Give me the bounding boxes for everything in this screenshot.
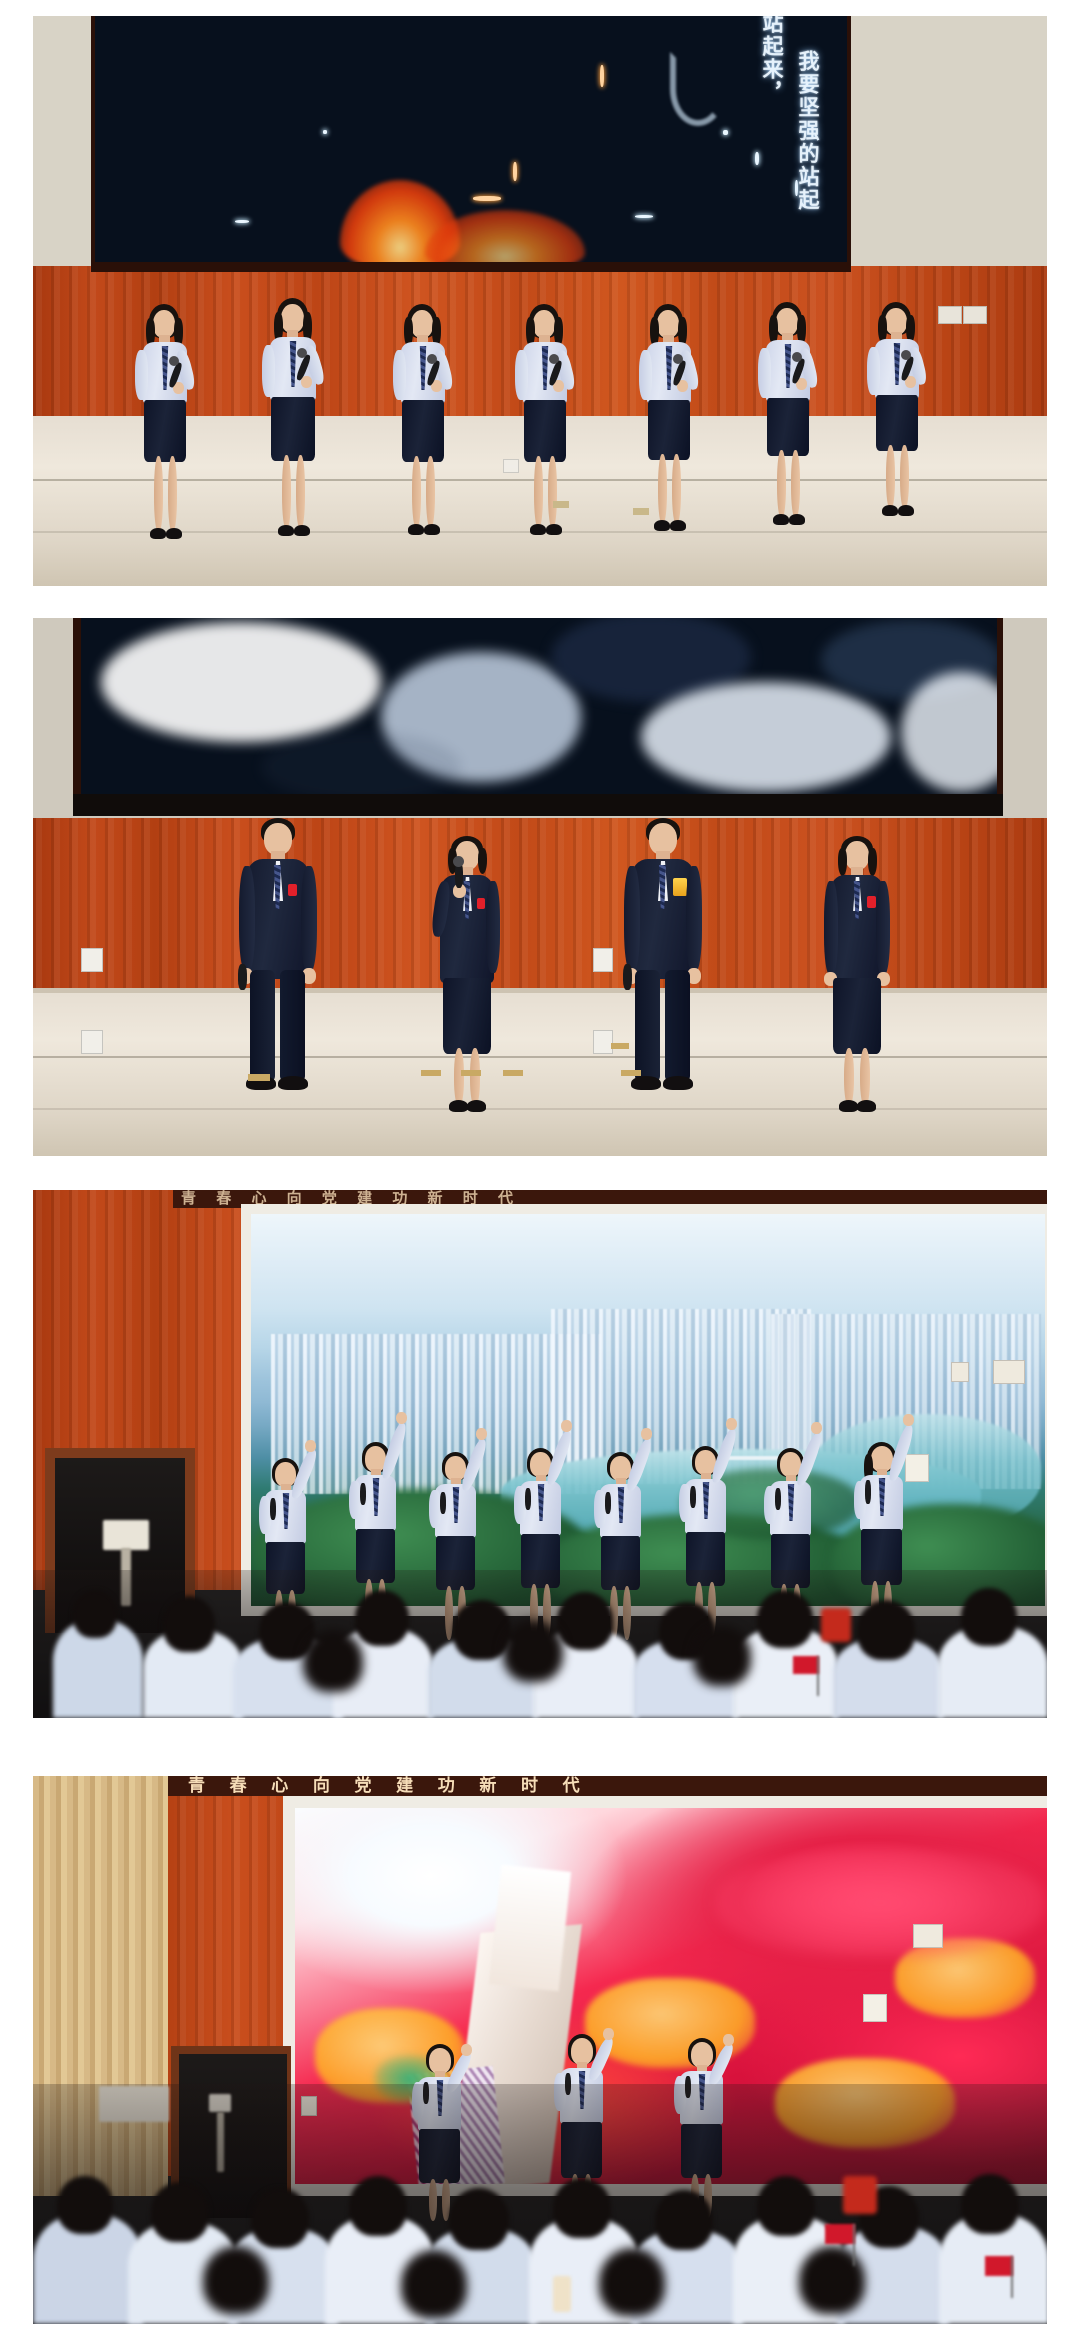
arm [259,1496,271,1534]
shoe [467,1100,486,1112]
leg [454,1048,464,1106]
hair-side [868,848,877,876]
lapel-badge [867,896,876,908]
skirt [443,978,491,1054]
head [281,304,304,333]
shoe [654,520,670,531]
drink-cup [553,2276,571,2312]
film-highlight [101,622,381,742]
audience-head [151,2182,209,2242]
stage-banner: 青 春 心 向 党 建 功 新 时 代 [168,1776,1047,1796]
arm [624,866,640,972]
wall-outlet [593,1030,613,1054]
shoe [631,1076,661,1090]
leg [296,455,305,529]
audience-head [251,2188,309,2248]
hand [603,2028,614,2040]
microphone [690,1486,696,1508]
hand [396,1412,407,1424]
stage-floor [33,990,1047,1156]
spark [235,220,249,223]
screen-lyric-line-2: 我要坚强的站起 [793,50,823,212]
leg [548,456,557,528]
arm [349,1481,361,1519]
hand [561,1420,572,1432]
arm [876,881,890,975]
performer [238,818,318,1118]
spark [755,152,759,165]
arm [486,881,500,973]
audience-head [557,1592,613,1650]
audience-head [655,2190,713,2250]
arm [239,866,255,972]
photo-4: 青 春 心 向 党 建 功 新 时 代 [33,1776,1047,2324]
equipment-cart [103,1520,149,1550]
hand [723,2034,734,2046]
microphone [525,1488,531,1510]
microphone-head [453,856,464,867]
hand [726,1418,737,1430]
screen-lyric-line-1: 站起来， [757,16,787,104]
head [885,308,907,335]
arm [764,1486,776,1524]
leg [154,456,163,532]
spark [323,130,327,134]
leg [791,450,800,518]
wall-outlet [593,948,613,972]
leg [860,1048,870,1106]
arm [262,345,275,397]
audience-head [503,1620,563,1682]
arm [824,881,838,975]
microphone-head [549,354,559,364]
watchtower [489,1865,571,1992]
skirt [833,978,881,1054]
microphone [623,964,632,990]
audience-head [757,2176,815,2236]
spark [473,196,501,201]
head [657,310,679,338]
leg [168,456,177,532]
red-mountain [715,1848,1045,1958]
wall-switch-panel [938,306,962,324]
arm [515,350,528,400]
microphone-head [792,352,802,362]
wall-outlet [81,1030,103,1054]
wall-outlet [913,1924,943,1948]
skirt [524,400,566,462]
wall-switch-panel [963,306,987,324]
hand [641,1428,652,1440]
arm [135,350,148,400]
microphone [270,1498,276,1520]
wall-outlet [633,508,649,515]
skirt [767,398,809,456]
chinese-flag [985,2256,1013,2276]
floor-marker [611,1043,629,1049]
leg [777,450,786,518]
spark [635,215,653,218]
audience-head [857,1600,915,1660]
audience-head [599,2248,665,2316]
shoe [670,520,686,531]
performer [865,302,927,542]
hand [305,1440,316,1452]
hook-graphic [670,52,726,126]
audience-head [449,2188,509,2250]
shoe [424,524,440,535]
head [845,841,869,870]
arm [514,1486,526,1524]
performer [637,304,699,556]
arm [867,347,880,395]
wall-outlet [993,1360,1025,1384]
shoe [663,1076,693,1090]
skirt [271,397,315,461]
film-highlight [641,682,891,792]
lapel-badge [288,884,297,896]
hand [301,376,312,388]
head [571,2038,593,2065]
flag-pole [853,2224,855,2266]
wall-outlet [503,459,519,473]
arm [301,866,317,972]
microphone-head [901,350,911,360]
shoe [546,524,562,535]
audience-head [355,1590,409,1646]
floor-marker [248,1074,270,1081]
skirt [402,400,444,462]
performer [261,298,323,560]
shoe [789,514,805,525]
shoe [857,1100,876,1112]
skirt [144,400,186,462]
chinese-flag [825,2224,855,2244]
audience-head [73,1590,117,1638]
leg [534,456,543,528]
banner-text: 青 春 心 向 党 建 功 新 时 代 [188,1776,589,1796]
shoe [166,528,182,539]
hair-side [838,848,847,876]
head [411,310,433,338]
audience-red-top [821,1608,851,1642]
led-screen-1: 站起来， 我要坚强的站起 [95,16,847,262]
floor-marker [503,1070,523,1076]
flag-pole [1011,2256,1013,2298]
led-screen-2 [81,618,997,798]
head [153,310,175,338]
shoe [530,524,546,535]
floor-marker [461,1070,481,1076]
shoe [773,514,789,525]
performer [823,836,891,1116]
photo-2 [33,618,1047,1156]
audience-head [203,2246,269,2314]
skirt [648,400,690,460]
microphone [775,1488,781,1510]
leg [426,456,435,528]
microphone [865,1480,871,1504]
performer [391,304,453,560]
arm [429,1490,441,1528]
spark [600,65,604,87]
microphone-head [297,348,307,358]
photo-3: 青 春 心 向 党 建 功 新 时 代 [33,1190,1047,1718]
trouser-leg [280,970,305,1082]
microphone-head [169,356,179,366]
arm [679,1484,691,1522]
floor-seam [33,1056,1047,1058]
spark [513,162,517,181]
audience-head [349,2176,407,2236]
stage-edge [33,988,1047,993]
shoe [408,524,424,535]
hand [476,1428,487,1440]
audience-red-top [843,2176,877,2214]
shoe [839,1100,858,1112]
head [533,310,555,338]
microphone [238,964,247,990]
leg [900,445,909,509]
leg [886,445,895,509]
audience-head [553,2178,611,2238]
shoe [882,505,898,516]
photo-gallery: 站起来， 我要坚强的站起 [0,0,1080,2339]
microphone-head [427,354,437,364]
audience-head [303,1630,363,1692]
head [776,308,798,336]
leg [658,454,667,524]
photo-1: 站起来， 我要坚强的站起 [33,16,1047,586]
audience-head [57,2176,113,2234]
microphone [440,1492,446,1514]
wall-outlet [951,1362,969,1382]
shoe [278,525,294,536]
hair-side [478,848,487,874]
microphone-head [673,354,683,364]
audience-head [401,2250,467,2318]
leg [282,455,291,529]
leg [844,1048,854,1106]
floor-marker [621,1070,641,1076]
wall-outlet [553,501,569,508]
award-badge [673,878,687,896]
shoe [150,528,166,539]
performer [513,304,575,560]
screen-bottom-bar [73,794,1003,816]
leg [672,454,681,524]
stage-front-seam [33,1108,1047,1110]
audience-head [799,2246,865,2314]
lapel-badge [477,898,485,909]
audience-head [163,1596,215,1652]
arm [594,1490,606,1528]
trouser-leg [250,970,275,1082]
shoe [898,505,914,516]
spark [723,130,728,135]
leg [412,456,421,528]
leg [470,1048,480,1106]
trouser-leg [635,970,660,1082]
shoe [294,525,310,536]
skirt [876,395,918,451]
microphone [360,1483,366,1505]
floor-marker [421,1070,441,1076]
microphone [605,1492,611,1514]
film-shadow [261,732,461,798]
arm [758,348,771,398]
hand [461,2044,472,2056]
wall-paper-note [863,1994,887,2022]
audience-head [693,1626,751,1686]
chinese-flag [793,1656,819,1674]
performer [756,302,818,552]
flag-pole [817,1656,819,1696]
hall-wood-wall [33,818,1047,998]
trouser-leg [665,970,690,1082]
performer [133,304,195,564]
audience-head [961,1588,1017,1646]
arm [393,350,406,400]
hand [903,1414,914,1426]
hand [811,1422,822,1434]
arm [639,350,652,400]
shoe [449,1100,468,1112]
arm [686,866,702,972]
shoe [278,1076,308,1090]
audience-head [757,1590,813,1648]
audience-head [961,2174,1019,2234]
wall-outlet [81,948,103,972]
